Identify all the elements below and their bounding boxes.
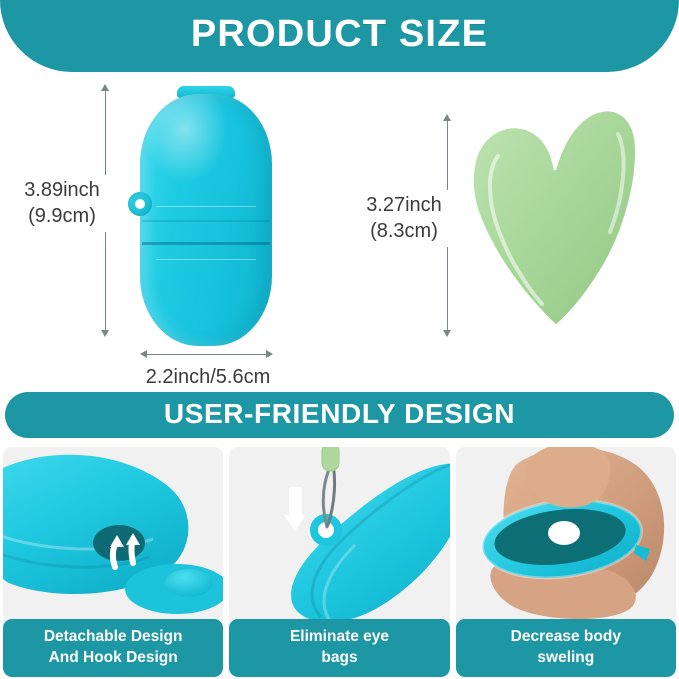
guasha-height-arrowhead-top (443, 114, 451, 121)
capsule-body (140, 94, 272, 346)
product-infographic-page: PRODUCT SIZE 3.89inch (9.9cm) 2.2in (0, 0, 679, 679)
user-friendly-design-banner-title: USER-FRIENDLY DESIGN (164, 400, 515, 430)
detachable-lid-illustration (3, 447, 223, 625)
feature-panel-detachable: Detachable Design And Hook Design (3, 447, 223, 677)
gua-sha-outline (473, 110, 637, 326)
container-width-arrowhead-right (266, 350, 273, 358)
guasha-height-arrowhead-bottom (443, 330, 451, 337)
detachable-lid-photo (3, 447, 223, 625)
feature-panel-hook: Eliminate eye bags (229, 447, 449, 677)
feature-panel-detachable-caption: Detachable Design And Hook Design (3, 619, 223, 677)
guasha-height-label-line2: (8.3cm) (360, 218, 448, 244)
container-height-arrowhead-bottom (101, 330, 109, 337)
feature-panel-hand-caption: Decrease body sweling (456, 619, 676, 677)
product-size-banner: PRODUCT SIZE (0, 0, 679, 72)
gua-sha-stone-image (468, 100, 638, 330)
feature-panel-hook-caption: Eliminate eye bags (229, 619, 449, 677)
hook-clip-photo (229, 447, 449, 625)
caption-line1: Eliminate eye (290, 627, 389, 648)
container-width-dimension-line (146, 354, 268, 355)
capsule-hook-loop-icon (128, 192, 152, 216)
container-height-arrowhead-top (101, 84, 109, 91)
caption-line2: sweling (537, 648, 594, 669)
product-size-banner-title: PRODUCT SIZE (191, 15, 488, 57)
capsule-seam-upper (142, 220, 270, 222)
capsule-ridge-upper (156, 206, 256, 207)
hand-holding-container-photo (456, 447, 676, 625)
container-height-label: 3.89inch (9.9cm) (14, 175, 110, 232)
container-width-arrowhead-left (140, 350, 147, 358)
capsule-container-image (140, 86, 272, 348)
caption-line2: And Hook Design (49, 648, 178, 669)
container-center-hole (548, 521, 580, 545)
guasha-height-label: 3.27inch (8.3cm) (356, 190, 452, 247)
feature-panels: Detachable Design And Hook Design (3, 447, 676, 677)
user-friendly-design-banner: USER-FRIENDLY DESIGN (5, 392, 674, 438)
detached-lid-knob (165, 569, 213, 597)
feature-panel-hand: Decrease body sweling (456, 447, 676, 677)
hook-clip-illustration (229, 447, 449, 625)
caption-line1: Detachable Design (44, 627, 183, 648)
product-size-stage: 3.89inch (9.9cm) 2.2inch/5.6cm (0, 72, 679, 390)
clip-green-grip (322, 447, 339, 471)
guasha-height-label-line1: 3.27inch (366, 194, 442, 216)
container-height-label-line2: (9.9cm) (18, 203, 106, 229)
caption-line1: Decrease body (511, 627, 621, 648)
caption-line2: bags (321, 648, 357, 669)
gua-sha-heart-shape (468, 100, 638, 330)
hand-holding-illustration (456, 447, 676, 625)
capsule-seam-middle (142, 242, 270, 245)
container-width-label-text: 2.2inch/5.6cm (146, 366, 271, 388)
container-width-label: 2.2inch/5.6cm (113, 362, 303, 392)
capsule-ridge-lower (156, 259, 256, 260)
container-height-label-line1: 3.89inch (24, 179, 100, 201)
